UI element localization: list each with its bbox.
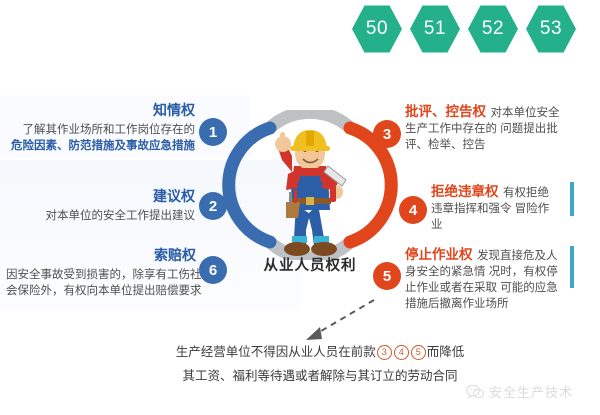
bottom-line-1: 生产经营单位不得因从业人员在前款345而降低 xyxy=(140,340,500,364)
badge-number: 6 xyxy=(209,262,217,279)
dashed-arrow-icon xyxy=(292,296,382,344)
item-line: 评、检举、控告 xyxy=(405,137,595,153)
right-item-claim[interactable]: 索赔权 因安全事故受到损害的，除享有工伤社 会保险外，有权向本单位提出赔偿要求 xyxy=(6,245,196,299)
infographic-canvas: 50 51 52 53 xyxy=(0,0,600,415)
accent-bar-stopwork xyxy=(570,246,574,288)
accent-bar-refuse xyxy=(570,182,574,216)
watermark: 安全生产技术 xyxy=(466,382,573,401)
item-number-badge-4[interactable]: 4 xyxy=(399,196,427,224)
badge-number: 2 xyxy=(209,198,217,215)
right-item-suggestion[interactable]: 建议权 对本单位的安全工作提出建议 xyxy=(10,186,195,224)
hexagon-badge[interactable]: 50 xyxy=(352,4,402,54)
wechat-icon xyxy=(466,384,484,400)
bottom-line-2: 其工资、福利等待遇或者解除与其订立的劳动合同 xyxy=(140,364,500,388)
item-title: 索赔权 xyxy=(6,245,196,265)
item-title: 知情权 xyxy=(10,100,195,120)
hexagon-number: 50 xyxy=(366,18,388,40)
hexagon-number: 53 xyxy=(540,18,562,40)
item-line: 措施后撤离作业场所 xyxy=(405,296,600,312)
item-number-badge-5[interactable]: 5 xyxy=(373,262,401,290)
badge-number: 1 xyxy=(209,124,217,141)
item-number-badge-1[interactable]: 1 xyxy=(199,118,227,146)
item-line: 对本单位的安全工作提出建议 xyxy=(10,208,195,224)
item-line: 因安全事故受到损害的，除享有工伤社 xyxy=(6,267,196,283)
center-diagram: 从业人员权利 xyxy=(222,110,398,296)
circled-number-5: 5 xyxy=(411,345,426,360)
item-number-badge-3[interactable]: 3 xyxy=(373,120,401,148)
right-item-knowledge[interactable]: 知情权 了解其作业场所和工作岗位存在的 危险因素、防范措施及事故应急措施 xyxy=(10,100,195,154)
circled-number-3: 3 xyxy=(377,345,392,360)
item-line: 会保险外，有权向本单位提出赔偿要求 xyxy=(6,283,196,299)
item-line: 了解其作业场所和工作岗位存在的 xyxy=(10,122,195,138)
item-title: 拒绝违章权 xyxy=(431,184,499,199)
circled-number-4: 4 xyxy=(394,345,409,360)
worker-illustration xyxy=(262,126,358,258)
item-number-badge-6[interactable]: 6 xyxy=(199,256,227,284)
hexagon-badge[interactable]: 53 xyxy=(526,4,576,54)
bottom-line1-after: 而降低 xyxy=(427,345,465,359)
hexagon-number: 51 xyxy=(424,18,446,40)
watermark-text: 安全生产技术 xyxy=(489,382,573,401)
item-line-highlight: 危险因素、防范措施及事故应急措施 xyxy=(10,138,195,154)
badge-number: 3 xyxy=(383,126,391,143)
bottom-line1-before: 生产经营单位不得因从业人员在前款 xyxy=(176,345,376,359)
hexagon-badge[interactable]: 52 xyxy=(468,4,518,54)
item-first-line-rest: 发现直接危及人 xyxy=(477,250,558,262)
item-number-badge-2[interactable]: 2 xyxy=(199,192,227,220)
right-item-criticism[interactable]: 批评、控告权 对本单位安全 生产工作中存在的 问题提出批 评、检举、控告 xyxy=(405,100,595,153)
item-first-line-rest: 对本单位安全 xyxy=(490,107,559,119)
hexagon-number: 52 xyxy=(482,18,504,40)
item-title: 批评、控告权 xyxy=(405,104,486,119)
item-title: 停止作业权 xyxy=(405,247,473,262)
item-line: 业 xyxy=(431,217,596,233)
center-label: 从业人员权利 xyxy=(222,254,398,275)
item-title: 建议权 xyxy=(10,186,195,206)
badge-number: 4 xyxy=(409,202,417,219)
hexagon-badge[interactable]: 51 xyxy=(410,4,460,54)
badge-number: 5 xyxy=(383,268,391,285)
bottom-note: 生产经营单位不得因从业人员在前款345而降低 其工资、福利等待遇或者解除与其订立… xyxy=(140,340,500,388)
item-line: 生产工作中存在的 问题提出批 xyxy=(405,121,595,137)
item-first-line-rest: 有权拒绝 xyxy=(503,187,549,199)
hexagon-number-strip: 50 51 52 53 xyxy=(352,4,576,54)
